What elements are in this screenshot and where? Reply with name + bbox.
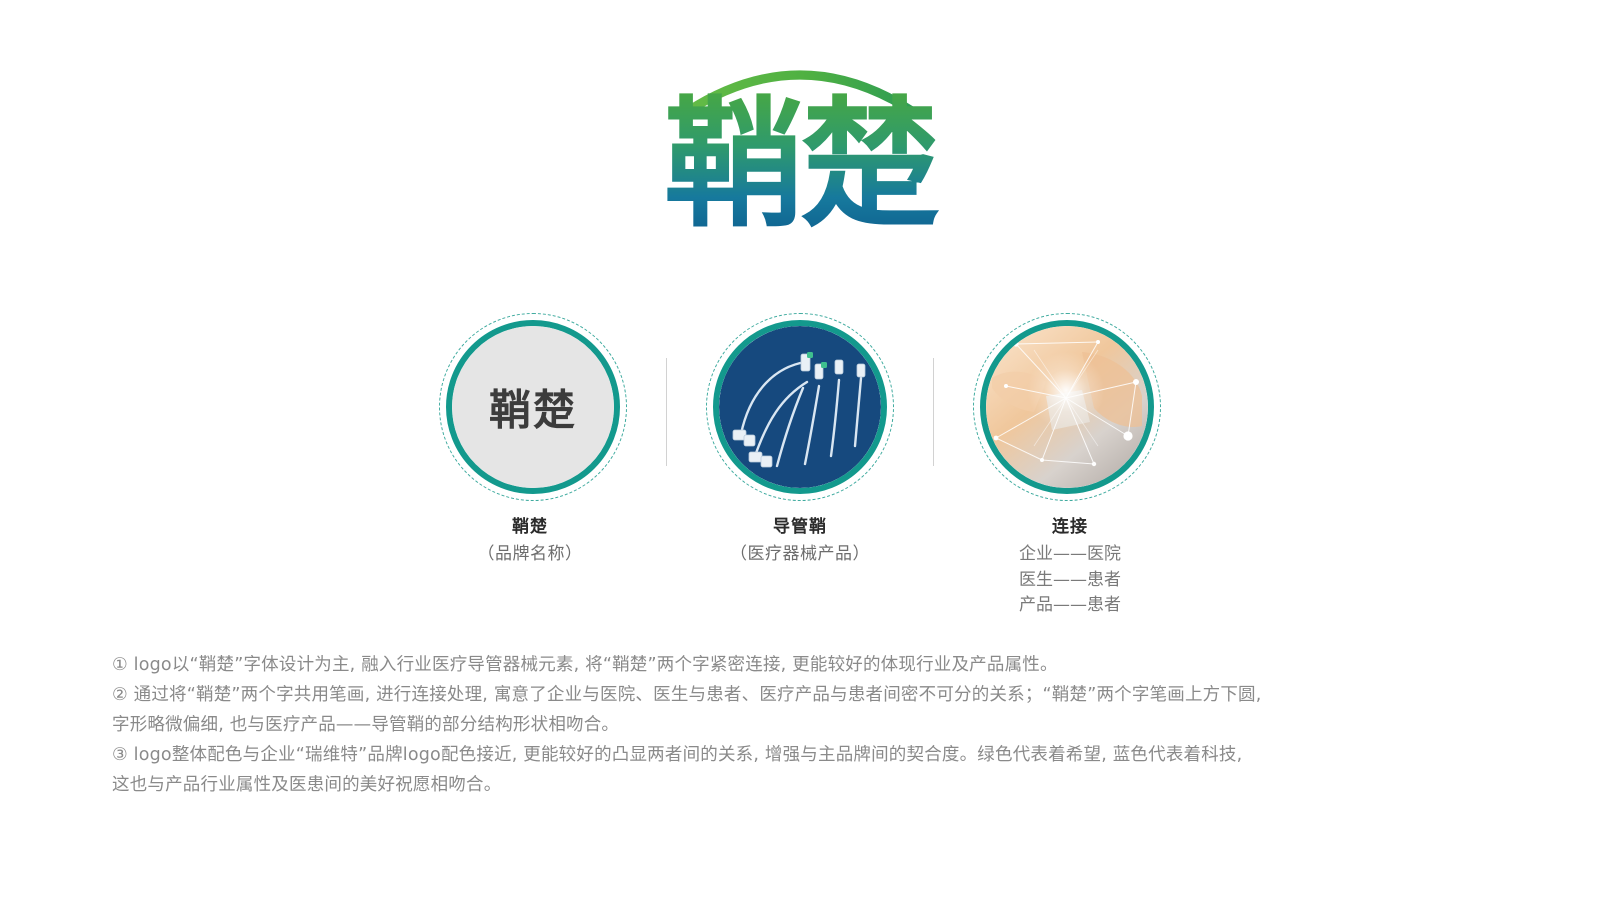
connection-line-2: 医生——患者 [975, 568, 1165, 594]
catheter-sheath-illustration [719, 326, 881, 488]
note-line-1: ① logo以“鞘楚”字体设计为主, 融入行业医疗导管器械元素, 将“鞘楚”两个… [112, 650, 1502, 680]
circle-brand-text: 鞘楚 [489, 377, 577, 438]
solid-ring-icon [713, 320, 887, 494]
circle-photo-catheter [719, 326, 881, 488]
icon-brand-name[interactable]: 鞘楚 [438, 312, 628, 502]
caption-connection: 连接 企业——医院 医生——患者 产品——患者 [975, 512, 1165, 619]
circle-photo-connection [986, 326, 1148, 488]
solid-ring-icon: 鞘楚 [446, 320, 620, 494]
caption-subtitle: （品牌名称） [435, 542, 625, 567]
note-line-3a: ③ logo整体配色与企业“瑞维特”品牌logo配色接近, 更能较好的凸显两者间… [112, 740, 1502, 770]
caption-title: 鞘楚 [435, 512, 625, 537]
divider-2 [933, 358, 934, 466]
connection-line-1: 企业——医院 [975, 542, 1165, 568]
brand-logo: 鞘楚 [630, 53, 970, 253]
caption-row: 鞘楚 （品牌名称） 导管鞘 （医疗器械产品） 连接 企业——医院 医生——患者 … [0, 512, 1600, 619]
icon-catheter-sheath[interactable] [705, 312, 895, 502]
solid-ring-icon [980, 320, 1154, 494]
connection-illustration [986, 326, 1148, 488]
caption-title: 导管鞘 [705, 512, 895, 537]
divider-1 [666, 358, 667, 466]
note-line-3b: 这也与产品行业属性及医患间的美好祝愿相吻合。 [112, 770, 1502, 800]
logo-characters: 鞘楚 [664, 84, 940, 247]
design-rationale-notes: ① logo以“鞘楚”字体设计为主, 融入行业医疗导管器械元素, 将“鞘楚”两个… [112, 650, 1502, 800]
logo-block: 鞘楚 [0, 48, 1600, 258]
note-line-2a: ② 通过将“鞘楚”两个字共用笔画, 进行连接处理, 寓意了企业与医院、医生与患者… [112, 680, 1502, 710]
caption-title: 连接 [975, 512, 1165, 537]
caption-subtitle: （医疗器械产品） [705, 542, 895, 567]
icon-row: 鞘楚 [0, 312, 1600, 512]
caption-brand-name: 鞘楚 （品牌名称） [435, 512, 625, 567]
caption-catheter-sheath: 导管鞘 （医疗器械产品） [705, 512, 895, 567]
icon-connection[interactable] [972, 312, 1162, 502]
connection-line-3: 产品——患者 [975, 593, 1165, 619]
note-line-2b: 字形略微偏细, 也与医疗产品——导管鞘的部分结构形状相吻合。 [112, 710, 1502, 740]
